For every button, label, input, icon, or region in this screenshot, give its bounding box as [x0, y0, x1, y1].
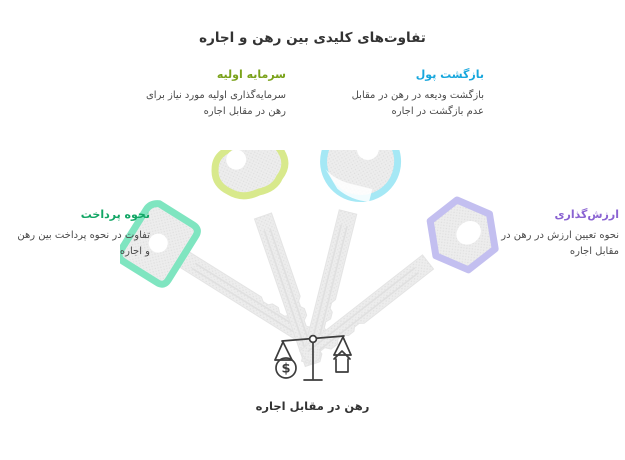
callout-payment-method: نحوه پرداخت تفاوت در نحوه پرداخت بین رهن…: [10, 208, 150, 259]
callout-payment-method-heading: نحوه پرداخت: [10, 208, 150, 221]
callout-money-return-body: بازگشت ودیعه در رهن در مقابل عدم بازگشت …: [338, 88, 484, 119]
dollar-symbol: $: [281, 362, 290, 377]
balance-scale-icon: $: [272, 330, 354, 385]
infographic-canvas: تفاوت‌های کلیدی بین رهن و اجاره: [0, 0, 625, 460]
callout-valuation-heading: ارزش‌گذاری: [484, 208, 619, 221]
callout-initial-capital-heading: سرمایه اولیه: [138, 68, 286, 81]
callout-initial-capital: سرمایه اولیه سرمایه‌گذاری اولیه مورد نیا…: [138, 68, 286, 119]
callout-valuation-body: نحوه تعیین ارزش در رهن در مقابل اجاره: [484, 228, 619, 259]
callout-initial-capital-body: سرمایه‌گذاری اولیه مورد نیاز برای رهن در…: [138, 88, 286, 119]
bottom-caption: رهن در مقابل اجاره: [0, 399, 625, 413]
page-title: تفاوت‌های کلیدی بین رهن و اجاره: [0, 30, 625, 46]
callout-money-return: بازگشت پول بازگشت ودیعه در رهن در مقابل …: [338, 68, 484, 119]
callout-payment-method-body: تفاوت در نحوه پرداخت بین رهن و اجاره: [10, 228, 150, 259]
callout-valuation: ارزش‌گذاری نحوه تعیین ارزش در رهن در مقا…: [484, 208, 619, 259]
callout-money-return-heading: بازگشت پول: [338, 68, 484, 81]
